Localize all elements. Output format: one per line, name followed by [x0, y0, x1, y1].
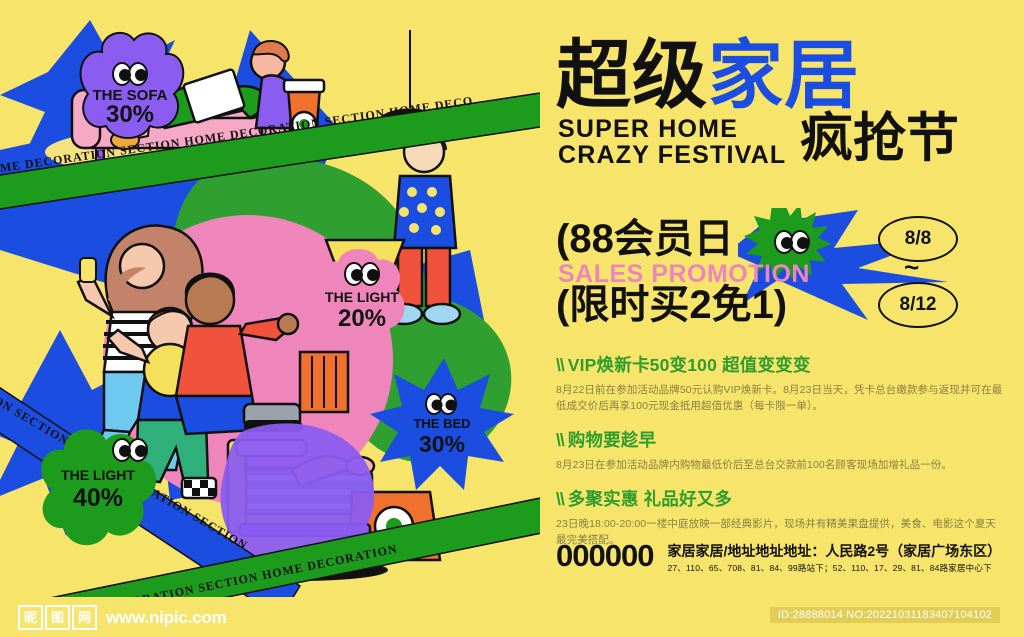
section-slashes: \\	[556, 430, 564, 450]
badge-light40-percent: 40%	[73, 484, 123, 512]
address-block: 000000 家居家居/地址地址地址：人民路2号（家居广场东区） 27、110、…	[556, 540, 1016, 574]
badge-light40-label: THE LIGHT	[61, 467, 135, 483]
address-main: 家居家居/地址地址地址：人民路2号（家居广场东区）	[667, 543, 1001, 559]
promo-section: \\VIP焕新卡50变100 超值变变变 8月22日前在参加活动品牌50元认购V…	[556, 352, 1004, 414]
address-transit: 27、110、65、708、81、84、99路站下；52、110、17、29、8…	[667, 562, 1001, 574]
poster-subtitle-cn: 疯抢节	[800, 112, 959, 166]
badge-sofa-percent: 30%	[106, 101, 154, 128]
illustration-collage: HOME DECORATION SECTION HOME DECORATION …	[0, 0, 540, 597]
section-heading-text: VIP焕新卡50变100 超值变变变	[568, 355, 811, 375]
poster-title-en: SUPER HOME CRAZY FESTIVAL	[558, 116, 786, 168]
badge-light20-label: THE LIGHT	[325, 289, 399, 305]
badge-bed-label: THE BED	[413, 416, 470, 431]
checker-shoe	[182, 478, 216, 498]
promo-line-2: (限时买2免1)	[556, 284, 787, 326]
section-heading-text: 购物要趁早	[568, 430, 657, 450]
section-body: 8月23日在参加活动品牌内购物最低价后至总台交款前100名顾客现场加增礼品一份。	[556, 457, 1004, 473]
phone-number: 000000	[556, 540, 653, 572]
section-heading: \\VIP焕新卡50变100 超值变变变	[556, 352, 1004, 377]
section-heading-text: 多聚实惠 礼品好又多	[568, 489, 732, 509]
watermark-id: ID:28888014 NO:20221031183407104102	[770, 607, 1000, 623]
section-body: 8月22日前在参加活动品牌50元认购VIP焕新卡。8月23日当天，凭卡总台缴款参…	[556, 382, 1004, 414]
section-heading: \\购物要趁早	[556, 427, 1004, 452]
section-slashes: \\	[556, 355, 564, 375]
title-block: 超级家居 SUPER HOME CRAZY FESTIVAL 疯抢节	[556, 38, 1024, 213]
watermark-logo-group: 昵 图 网 www.nipic.com	[18, 605, 227, 630]
title-en-line1: SUPER HOME	[558, 116, 786, 142]
poster-title-cn: 超级家居	[556, 38, 860, 112]
title-en-line2: CRAZY FESTIVAL	[558, 142, 786, 168]
poster: HOME DECORATION SECTION HOME DECORATION …	[0, 0, 1024, 637]
watermark-bar: 昵 图 网 www.nipic.com ID:28888014 NO:20221…	[0, 597, 1024, 637]
logo-char-2: 图	[45, 605, 70, 630]
section-slashes: \\	[556, 489, 564, 509]
badge-light20-percent: 20%	[338, 305, 386, 332]
logo-char-3: 网	[72, 605, 97, 630]
badge-bed-percent: 30%	[419, 431, 465, 457]
promo-line-1: (88会员日	[556, 218, 734, 260]
address-text: 家居家居/地址地址地址：人民路2号（家居广场东区） 27、110、65、708、…	[667, 540, 1001, 574]
side-table	[300, 352, 348, 412]
nipic-logo: 昵 图 网	[18, 605, 99, 630]
date-separator: ~	[904, 256, 919, 278]
date-badge-end: 8/12	[878, 282, 958, 328]
logo-char-1: 昵	[18, 605, 43, 630]
title-cn-dark: 超级	[556, 33, 708, 117]
watermark-url: www.nipic.com	[106, 608, 227, 628]
eyes-icon	[426, 394, 457, 414]
promo-section: \\购物要趁早 8月23日在参加活动品牌内购物最低价后至总台交款前100名顾客现…	[556, 427, 1004, 473]
promo-sections: \\VIP焕新卡50变100 超值变变变 8月22日前在参加活动品牌50元认购V…	[556, 352, 1004, 561]
title-cn-blue: 家居	[708, 33, 860, 117]
content-column: 超级家居 SUPER HOME CRAZY FESTIVAL 疯抢节	[548, 0, 1024, 597]
section-heading: \\多聚实惠 礼品好又多	[556, 486, 1004, 511]
promo-band: (88会员日 SALES PROMOTION (限时买2免1) 8/8 ~ 8/…	[548, 212, 1024, 332]
